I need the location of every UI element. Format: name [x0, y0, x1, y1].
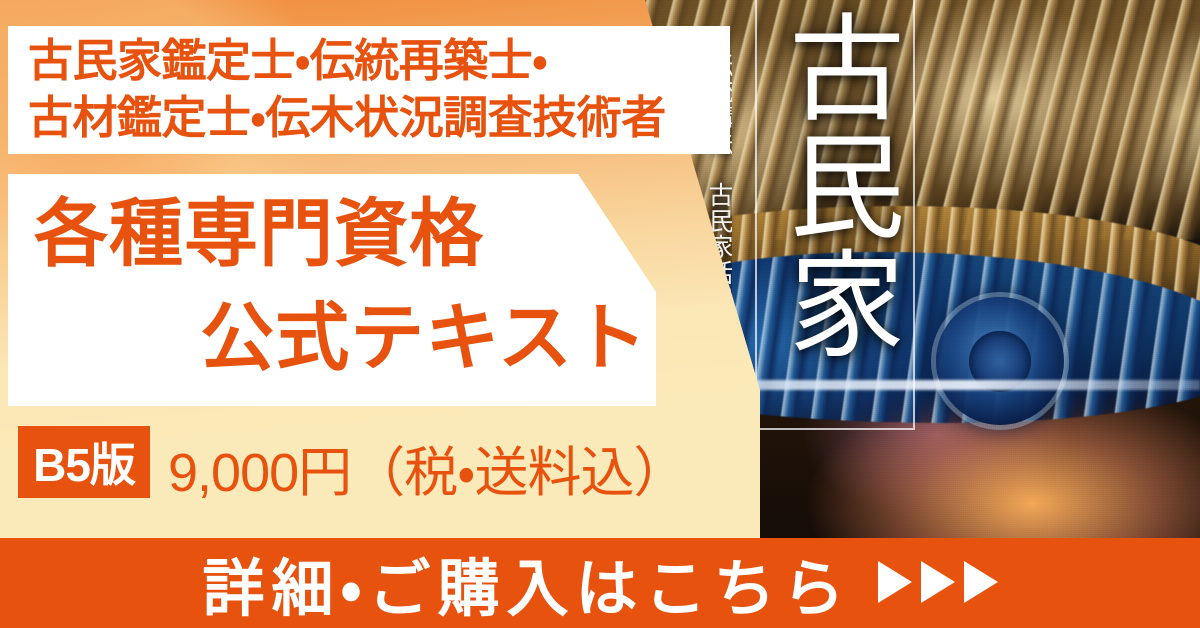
cta-arrow-group [878, 561, 998, 603]
chevron-right-icon [964, 561, 998, 603]
cta-label: 詳細・ご購入はこちら [202, 538, 851, 628]
qualifications-panel: 古民家鑑定士・伝統再築士・ 古材鑑定士・伝木状況調査技術者 [8, 26, 730, 154]
headline-line-1: 各種専門資格 [34, 182, 654, 286]
chevron-right-icon [921, 561, 955, 603]
qualifications-line-1: 古民家鑑定士・伝統再築士・ [28, 35, 547, 86]
headline-text: 各種専門資格 公式テキスト [34, 182, 654, 389]
chevron-right-icon [878, 561, 912, 603]
cover-vertical-title: 古民家 [768, 8, 903, 362]
format-badge: B5版 [18, 426, 150, 498]
qualifications-text: 古民家鑑定士・伝統再築士・ 古材鑑定士・伝木状況調査技術者 [28, 32, 666, 146]
qualifications-line-2: 古材鑑定士・伝木状況調査技術者 [28, 92, 666, 143]
headline-line-2: 公式テキスト [34, 286, 654, 390]
price-text: 9,000円（税・送料込） [168, 428, 687, 507]
promo-banner: 古民家 伝統構法 古民家活用のための調査と再生の 古民家鑑定士・伝統再築士・ 古… [0, 0, 1200, 628]
cta-bar[interactable]: 詳細・ご購入はこちら [0, 538, 1200, 628]
headline-panel: 各種専門資格 公式テキスト [8, 174, 656, 406]
